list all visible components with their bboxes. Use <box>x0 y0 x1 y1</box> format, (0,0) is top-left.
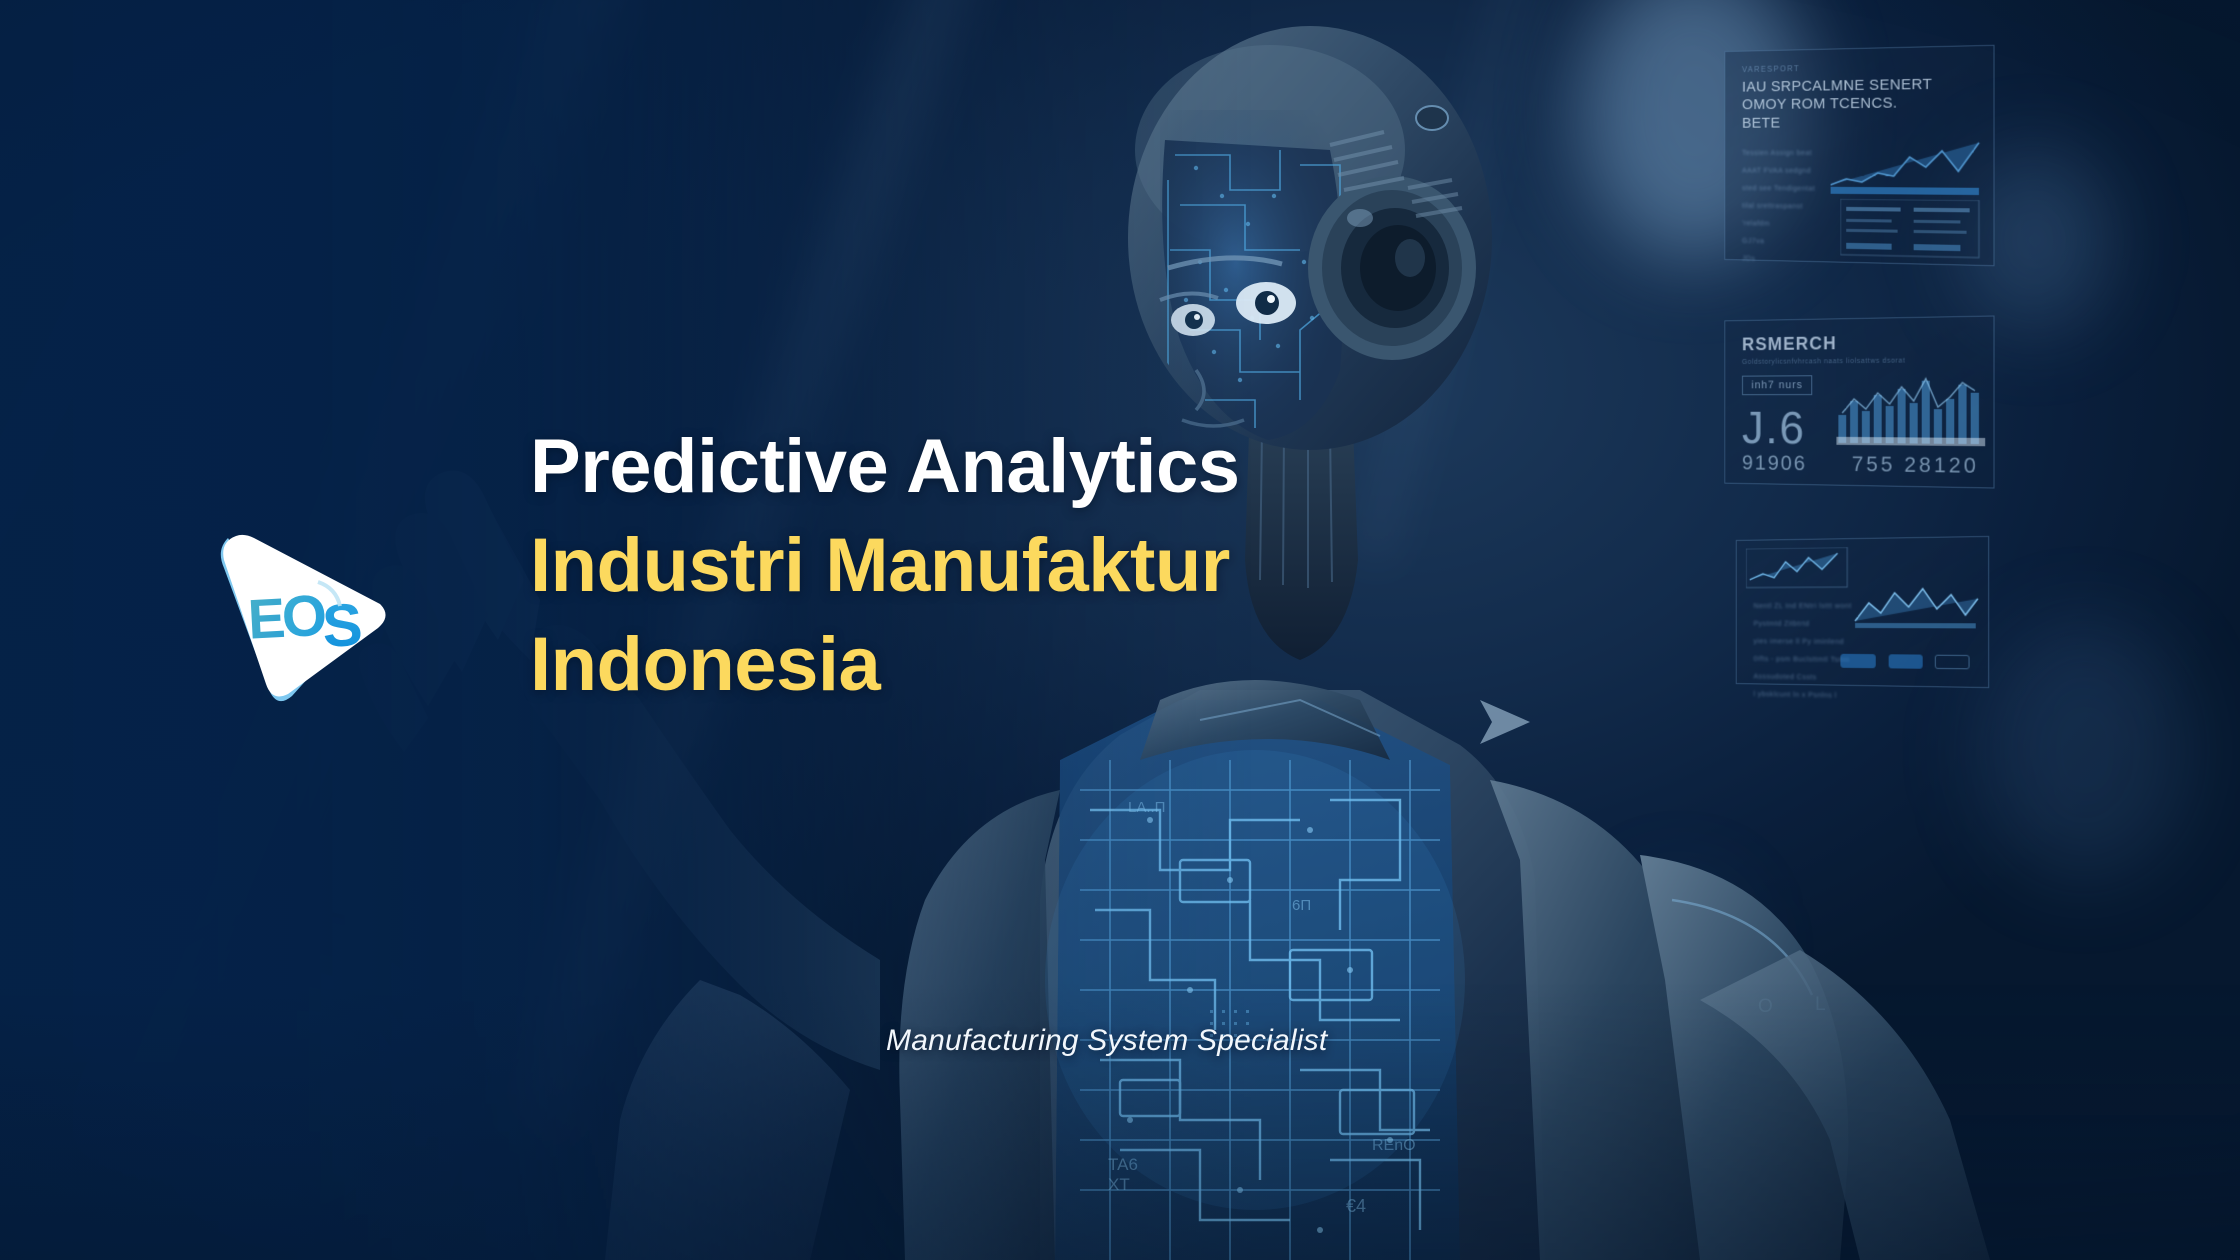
title-block: Predictive Analytics Industri Manufaktur… <box>530 418 1710 714</box>
subtitle: Manufacturing System Specialist <box>886 1024 1327 1058</box>
title-line-1: Predictive Analytics <box>530 418 1710 517</box>
title-line-3: Indonesia <box>530 616 1710 715</box>
title-line-2: Industri Manufaktur <box>530 517 1710 616</box>
slide-canvas: O L <box>0 0 2240 1260</box>
eos-logo[interactable]: E O S <box>206 524 396 714</box>
logo-letter-s: S <box>321 591 364 660</box>
